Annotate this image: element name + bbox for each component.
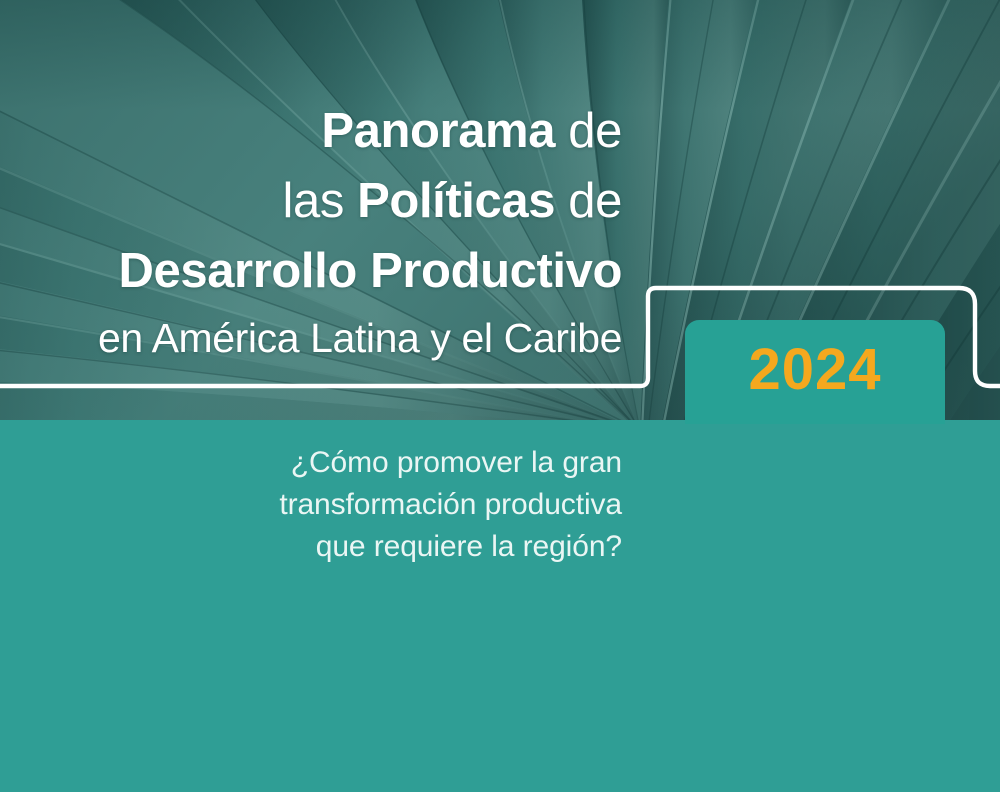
subtitle-line-3: que requiere la región?: [0, 526, 622, 568]
cover-title: Panorama de las Políticas de Desarrollo …: [0, 96, 622, 370]
title-line-1-light: de: [555, 104, 622, 158]
title-line-2-light-a: las: [282, 174, 357, 228]
title-line-1-bold: Panorama: [321, 104, 555, 158]
title-line-2-bold: Políticas: [357, 174, 555, 228]
title-line-2-light-b: de: [555, 174, 622, 228]
title-line-3-bold: Desarrollo Productivo: [119, 244, 623, 298]
report-cover: Panorama de las Políticas de Desarrollo …: [0, 0, 1000, 792]
title-line-4: en América Latina y el Caribe: [0, 306, 622, 370]
title-line-1: Panorama de: [0, 96, 622, 166]
title-line-2: las Políticas de: [0, 166, 622, 236]
cover-subtitle: ¿Cómo promover la gran transformación pr…: [0, 442, 622, 568]
subtitle-line-2: transformación productiva: [0, 484, 622, 526]
year-badge: 2024: [685, 320, 945, 424]
year-badge-label: 2024: [748, 341, 881, 399]
title-line-3: Desarrollo Productivo: [0, 236, 622, 306]
subtitle-line-1: ¿Cómo promover la gran: [0, 442, 622, 484]
title-line-4-light: en América Latina y el Caribe: [98, 315, 622, 361]
